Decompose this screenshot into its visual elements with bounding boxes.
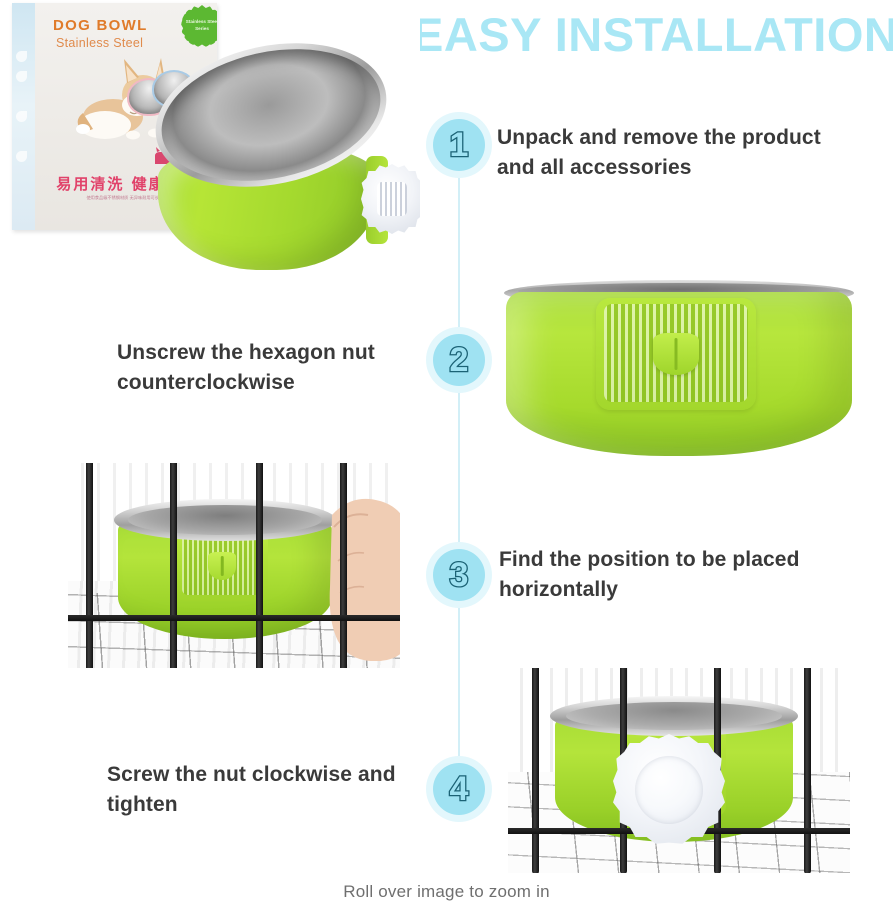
bowl3-hexagon-knob — [208, 552, 236, 580]
bowl3-steel-interior — [128, 505, 322, 535]
step-3-caption: Find the position to be placed horizonta… — [499, 545, 874, 605]
bowl2-mount-bracket — [596, 298, 756, 410]
cage-bar-vertical-4 — [340, 463, 347, 668]
white-flower-nut — [361, 164, 420, 234]
step-number-3: 3 — [450, 558, 469, 592]
page-title: EASY INSTALLATION — [412, 6, 893, 62]
step-2-image — [498, 272, 863, 462]
step-2-caption: Unscrew the hexagon nut counterclockwise — [117, 338, 422, 398]
step-4-image — [508, 668, 850, 873]
package-subtitle: Stainless Steel — [56, 36, 143, 50]
step-marker-1[interactable]: 1 — [433, 119, 485, 171]
flower-nut-center-face — [635, 756, 703, 824]
cage-bar-vertical-4 — [804, 668, 811, 873]
roll-over-zoom-hint: Roll over image to zoom in — [0, 882, 893, 902]
cage-bar-vertical-3 — [256, 463, 263, 668]
package-title: DOG BOWL — [53, 17, 148, 34]
step-number-4: 4 — [450, 772, 469, 806]
cage-bar-vertical-1 — [86, 463, 93, 668]
cage-bar-vertical-1 — [532, 668, 539, 873]
package-box-spine — [12, 3, 35, 230]
installation-infographic: EASY INSTALLATION DOG BOWL Stainless Ste… — [0, 0, 893, 914]
step-1-caption: Unpack and remove the product and all ac… — [497, 123, 847, 183]
step-marker-4[interactable]: 4 — [433, 763, 485, 815]
bowl2-hexagon-knob — [653, 333, 699, 375]
bowl4-steel-interior — [566, 702, 782, 730]
cage-bar-horizontal — [68, 615, 400, 621]
step-4-caption: Screw the nut clockwise and tighten — [107, 760, 417, 820]
step-3-image — [68, 463, 400, 668]
step-marker-2[interactable]: 2 — [433, 334, 485, 386]
step-number-2: 2 — [450, 343, 469, 377]
cage-bar-vertical-2 — [170, 463, 177, 668]
flower-nut-threads — [377, 182, 407, 216]
hand-holding-bowl — [294, 481, 400, 661]
stainless-steel-series-badge: Stainless Steel Series — [181, 5, 217, 47]
step-1-image: DOG BOWL Stainless Steel Stainless Steel… — [0, 0, 420, 272]
step-number-1: 1 — [450, 128, 469, 162]
white-flower-nut-tightened — [613, 734, 725, 846]
timeline-connector-line — [458, 120, 460, 820]
bowl-with-tilted-steel-insert — [148, 52, 416, 264]
step-marker-3[interactable]: 3 — [433, 549, 485, 601]
